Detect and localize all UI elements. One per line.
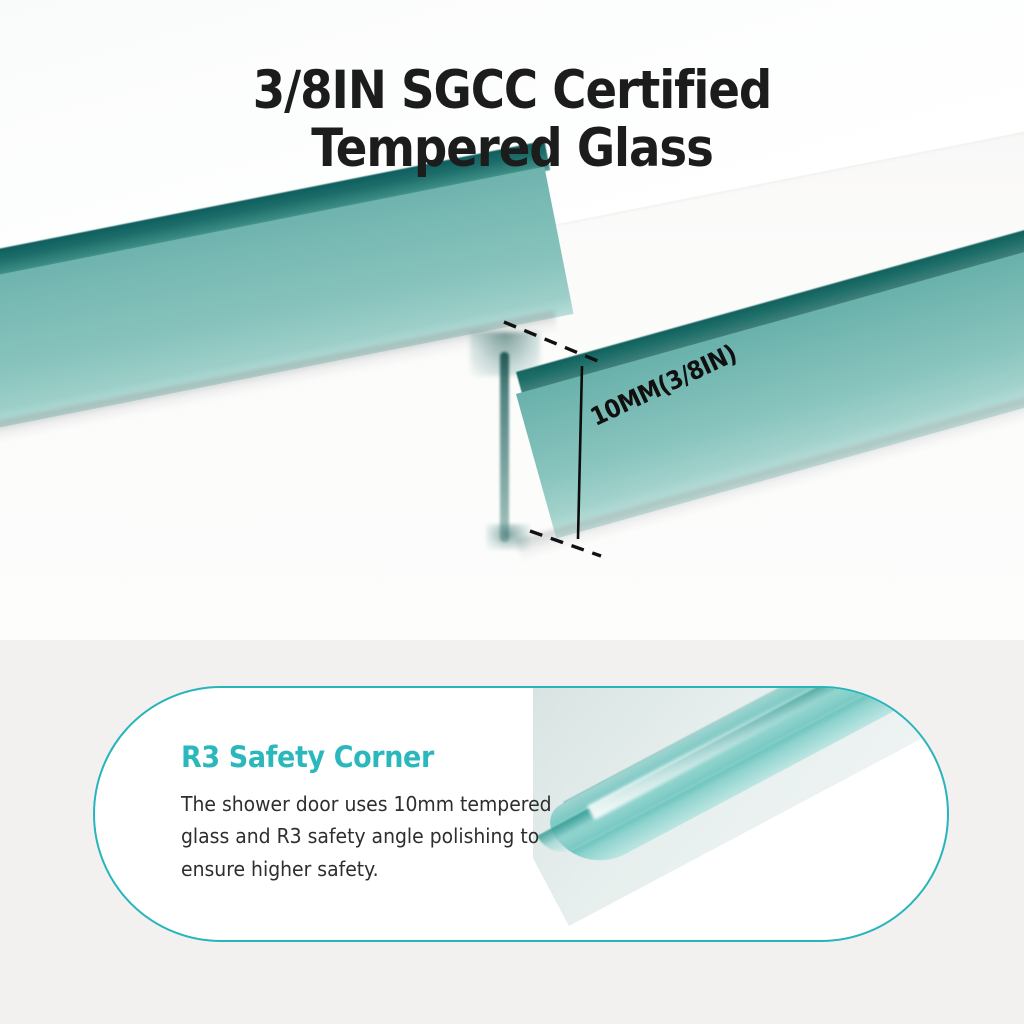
- page-title: 3/8IN SGCC Certified Tempered Glass: [61, 62, 962, 179]
- infographic-page: 3/8IN SGCC Certified Tempered Glass 10MM…: [0, 0, 1024, 1024]
- feature-card-body: The shower door uses 10mm tempered glass…: [181, 788, 557, 885]
- feature-card-r3-safety-corner: R3 Safety Corner The shower door uses 10…: [93, 686, 949, 942]
- glass-corner-foot-shadow: [486, 524, 530, 550]
- feature-card-text-block: R3 Safety Corner The shower door uses 10…: [181, 740, 601, 885]
- feature-card-title: R3 Safety Corner: [181, 740, 572, 774]
- glass-corner-seam: [500, 352, 509, 542]
